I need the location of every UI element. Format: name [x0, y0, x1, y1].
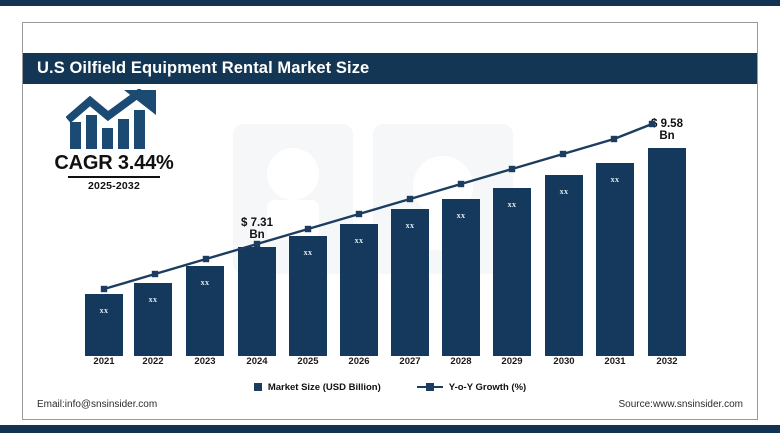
- legend-item-2[interactable]: Y-o-Y Growth (%): [417, 382, 526, 393]
- yoy-growth-point: [305, 226, 311, 232]
- yoy-growth-point: [509, 166, 515, 172]
- x-axis-tick-2029: 2029: [483, 356, 541, 367]
- title-bar: U.S Oilfield Equipment Rental Market Siz…: [23, 53, 757, 84]
- chart-legend: Market Size (USD Billion)Y-o-Y Growth (%…: [23, 378, 757, 396]
- yoy-growth-point: [152, 271, 158, 277]
- legend-label: Y-o-Y Growth (%): [449, 382, 526, 393]
- bottom-accent-strip: [0, 425, 780, 433]
- x-axis-tick-2031: 2031: [586, 356, 644, 367]
- chart-panel: U.S Oilfield Equipment Rental Market Siz…: [22, 22, 758, 420]
- growth-arrow-bar-chart-icon: [66, 89, 162, 151]
- legend-line-marker-icon: [417, 383, 443, 391]
- footer-source: Source:www.snsinsider.com: [619, 399, 744, 410]
- yoy-growth-point: [560, 151, 566, 157]
- footer: Email:info@snsinsider.com Source:www.sns…: [23, 397, 757, 419]
- chart-infographic: U.S Oilfield Equipment Rental Market Siz…: [0, 0, 780, 433]
- yoy-growth-point: [254, 241, 260, 247]
- x-axis-tick-2026: 2026: [330, 356, 388, 367]
- footer-email: Email:info@snsinsider.com: [37, 399, 157, 410]
- x-axis-labels: 2021202220232024202520262027202820292030…: [23, 356, 757, 374]
- yoy-growth-point: [611, 136, 617, 142]
- x-axis-tick-2023: 2023: [176, 356, 234, 367]
- cagr-badge: CAGR 3.44% 2025-2032: [39, 89, 189, 192]
- top-accent-strip: [0, 0, 780, 6]
- legend-item-1[interactable]: Market Size (USD Billion): [254, 382, 381, 393]
- x-axis-tick-2027: 2027: [381, 356, 439, 367]
- legend-label: Market Size (USD Billion): [268, 382, 381, 393]
- yoy-growth-point: [356, 211, 362, 217]
- x-axis-tick-2022: 2022: [124, 356, 182, 367]
- x-axis-tick-2030: 2030: [535, 356, 593, 367]
- legend-square-icon: [254, 383, 262, 391]
- x-axis-tick-2025: 2025: [279, 356, 337, 367]
- yoy-growth-point: [649, 121, 655, 127]
- cagr-range: 2025-2032: [39, 180, 189, 192]
- yoy-growth-point: [458, 181, 464, 187]
- page-title: U.S Oilfield Equipment Rental Market Siz…: [37, 59, 369, 78]
- yoy-growth-point: [203, 256, 209, 262]
- x-axis-tick-2028: 2028: [432, 356, 490, 367]
- x-axis-tick-2024: 2024: [228, 356, 286, 367]
- yoy-growth-point: [407, 196, 413, 202]
- cagr-divider: [68, 176, 160, 178]
- yoy-growth-point: [101, 286, 107, 292]
- x-axis-tick-2032: 2032: [638, 356, 696, 367]
- cagr-value: CAGR 3.44%: [39, 152, 189, 175]
